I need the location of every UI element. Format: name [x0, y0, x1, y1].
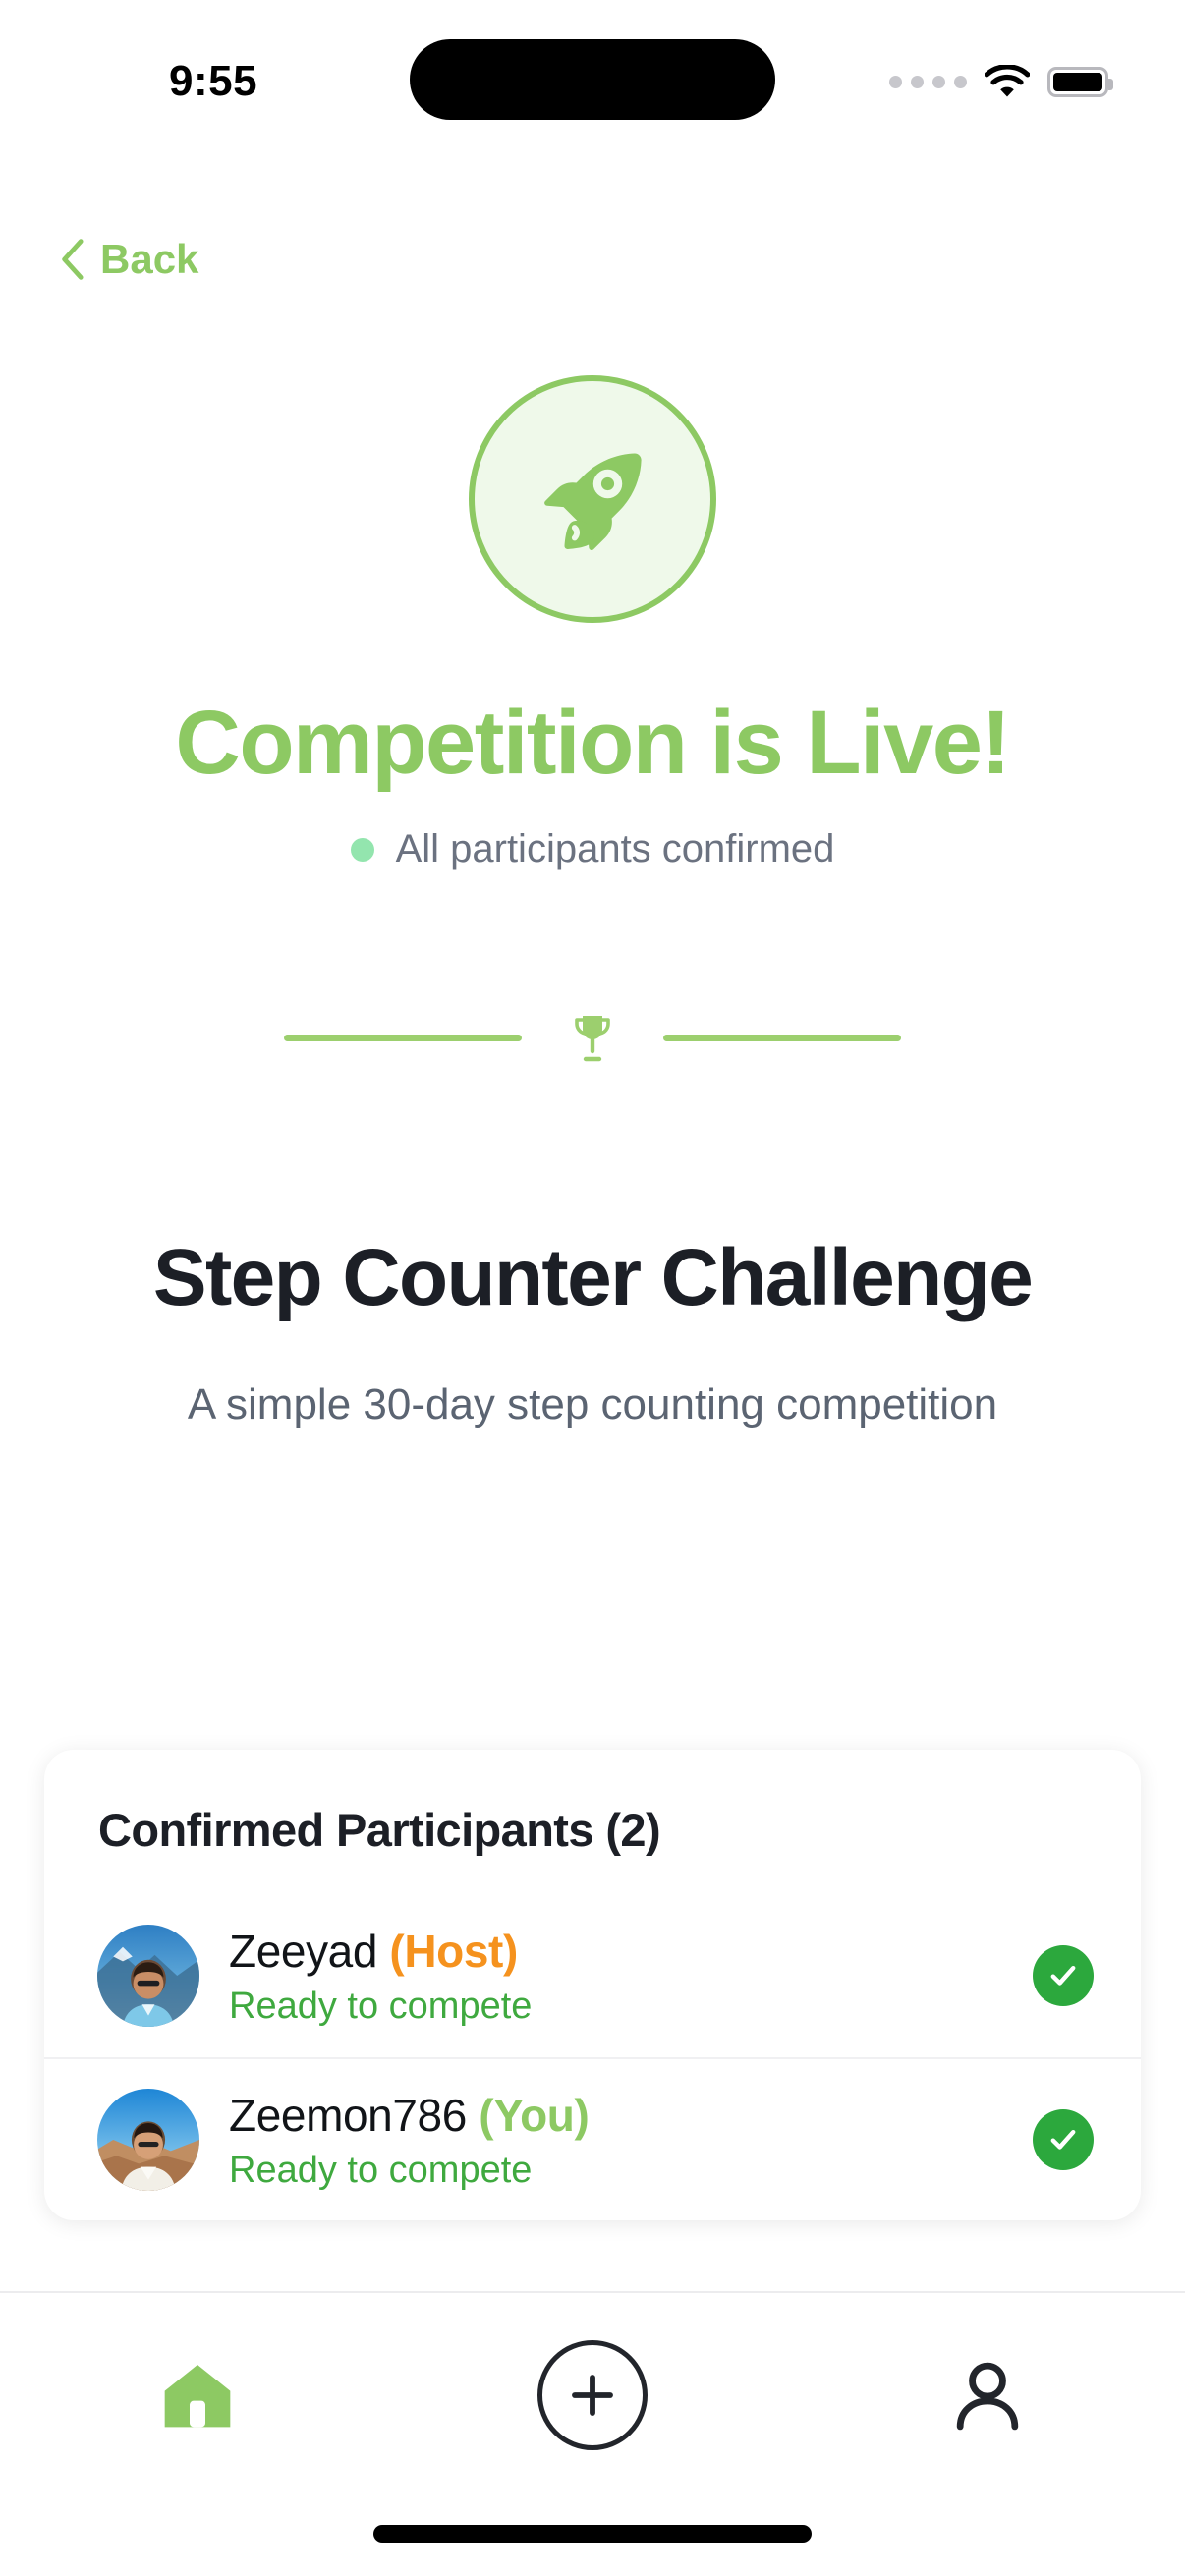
person-icon: [954, 2358, 1021, 2435]
rocket-icon: [469, 375, 716, 623]
participants-card-title: Confirmed Participants (2): [44, 1750, 1141, 1894]
avatar: [97, 1925, 199, 2027]
participant-name: Zeeyad (Host): [229, 1926, 518, 1977]
app-screen: 9:55 Back: [0, 0, 1185, 2576]
hero-section: Competition is Live! All participants co…: [0, 375, 1185, 871]
participant-name: Zeemon786 (You): [229, 2090, 589, 2141]
participant-info: Zeemon786 (You) Ready to compete: [229, 2089, 1003, 2192]
check-circle-icon: [1033, 2109, 1094, 2170]
page-title: Competition is Live!: [0, 698, 1185, 788]
participant-info: Zeeyad (Host) Ready to compete: [229, 1925, 1003, 2028]
challenge-title: Step Counter Challenge: [0, 1233, 1185, 1323]
back-button[interactable]: Back: [59, 236, 198, 283]
dynamic-island: [410, 39, 775, 120]
check-circle-icon: [1033, 1945, 1094, 2006]
participant-row[interactable]: Zeemon786 (You) Ready to compete: [44, 2057, 1141, 2220]
divider-line-left: [284, 1035, 522, 1041]
home-icon: [158, 2358, 237, 2431]
confirmation-status: All participants confirmed: [0, 827, 1185, 871]
plus-circle-icon[interactable]: [537, 2340, 648, 2450]
divider-line-right: [663, 1035, 901, 1041]
status-bar-time: 9:55: [169, 57, 257, 106]
participant-name-text: Zeemon786: [229, 2090, 467, 2141]
home-indicator: [373, 2525, 812, 2543]
tab-home[interactable]: [99, 2358, 296, 2431]
avatar: [97, 2089, 199, 2191]
participant-status: Ready to compete: [229, 2150, 1003, 2192]
tab-add[interactable]: [494, 2358, 691, 2450]
signal-dots-icon: [889, 76, 967, 88]
challenge-section: Step Counter Challenge A simple 30-day s…: [0, 1233, 1185, 1433]
participant-role-tag: (Host): [389, 1926, 517, 1977]
confirmation-text: All participants confirmed: [396, 827, 835, 871]
challenge-description: A simple 30-day step counting competitio…: [0, 1376, 1185, 1433]
status-dot-icon: [351, 838, 374, 862]
chevron-left-icon: [59, 238, 85, 281]
trophy-divider: [0, 1012, 1185, 1063]
participant-name-text: Zeeyad: [229, 1926, 377, 1977]
wifi-icon: [985, 65, 1030, 98]
participant-status: Ready to compete: [229, 1986, 1003, 2028]
tab-profile[interactable]: [889, 2358, 1086, 2435]
participant-row[interactable]: Zeeyad (Host) Ready to compete: [44, 1894, 1141, 2057]
battery-icon: [1047, 67, 1108, 97]
participants-card: Confirmed Participants (2): [44, 1750, 1141, 2220]
status-bar: 9:55: [0, 0, 1185, 157]
status-bar-icons: [889, 65, 1108, 98]
participant-role-tag: (You): [479, 2090, 589, 2141]
trophy-icon: [569, 1012, 616, 1063]
back-label: Back: [100, 236, 198, 283]
